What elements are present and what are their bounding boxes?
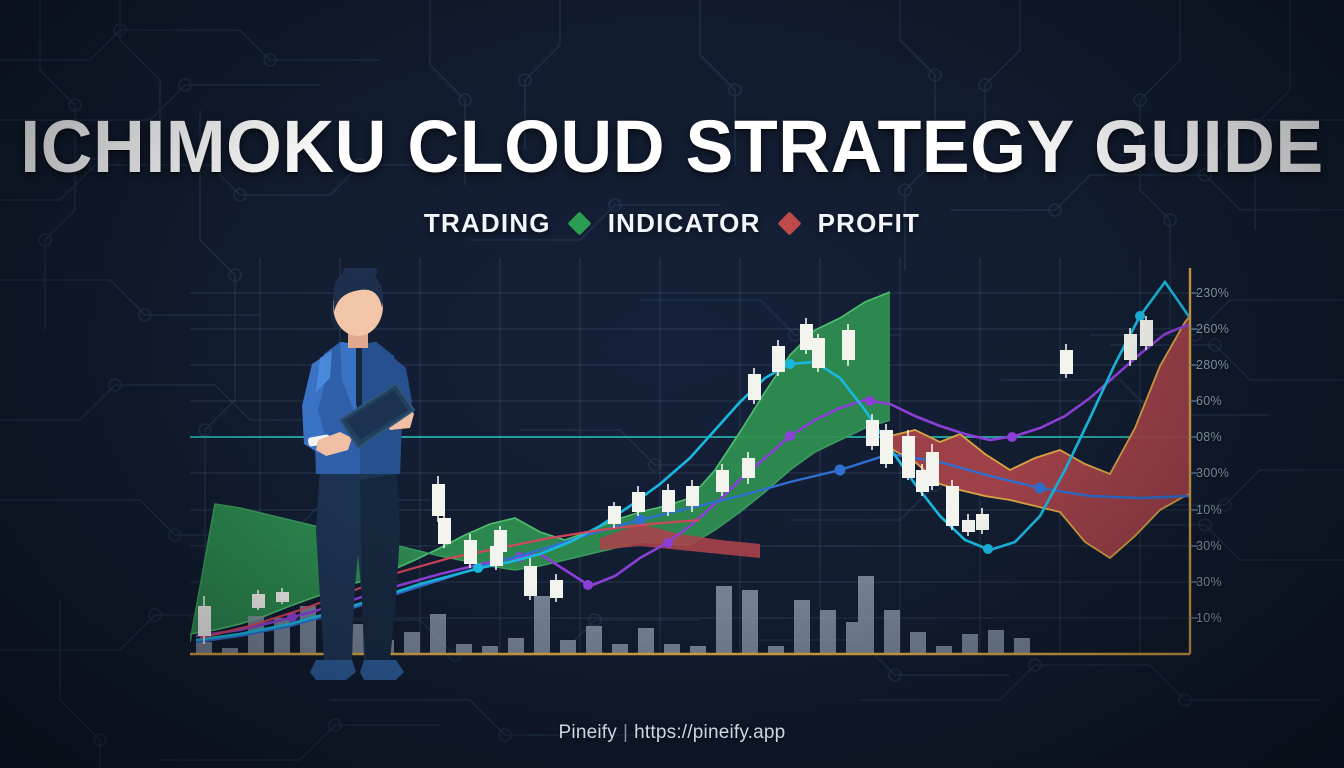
- subtitle-word-profit: PROFIT: [818, 208, 921, 239]
- y-tick-4: 08%: [1196, 430, 1222, 444]
- y-tick-2: 280%: [1196, 358, 1229, 372]
- page-title: ICHIMOKU CLOUD STRATEGY GUIDE: [20, 108, 1324, 186]
- header: ICHIMOKU CLOUD STRATEGY GUIDE TRADING IN…: [0, 0, 1344, 239]
- ichimoku-chart: [0, 258, 1344, 668]
- subtitle-row: TRADING INDICATOR PROFIT: [0, 208, 1344, 239]
- subtitle-word-indicator: INDICATOR: [608, 208, 761, 239]
- illustration-shoe-left: [310, 660, 356, 680]
- y-tick-3: 60%: [1196, 394, 1222, 408]
- illustration-leg-shadow: [360, 474, 400, 660]
- poster-canvas: ICHIMOKU CLOUD STRATEGY GUIDE TRADING IN…: [0, 0, 1344, 768]
- footer: Pineify|https://pineify.app: [0, 722, 1344, 744]
- subtitle-word-trading: TRADING: [424, 208, 551, 239]
- chart-area: 230% 260% 280% 60% 08% 300% 10% 30% 30% …: [0, 258, 1344, 668]
- footer-brand: Pineify: [559, 722, 617, 743]
- y-tick-5: 300%: [1196, 466, 1229, 480]
- businesswoman-illustration: [268, 268, 448, 683]
- y-tick-7: 30%: [1196, 539, 1222, 553]
- footer-separator: |: [617, 722, 634, 743]
- y-tick-6: 10%: [1196, 503, 1222, 517]
- illustration-shoe-right: [360, 660, 404, 680]
- y-tick-9: 10%: [1196, 611, 1222, 625]
- footer-url[interactable]: https://pineify.app: [634, 722, 785, 743]
- diamond-red-icon: [777, 211, 801, 235]
- diamond-green-icon: [567, 211, 591, 235]
- y-tick-1: 260%: [1196, 322, 1229, 336]
- y-axis-labels: 230% 260% 280% 60% 08% 300% 10% 30% 30% …: [1196, 258, 1316, 668]
- y-tick-8: 30%: [1196, 575, 1222, 589]
- y-tick-0: 230%: [1196, 286, 1229, 300]
